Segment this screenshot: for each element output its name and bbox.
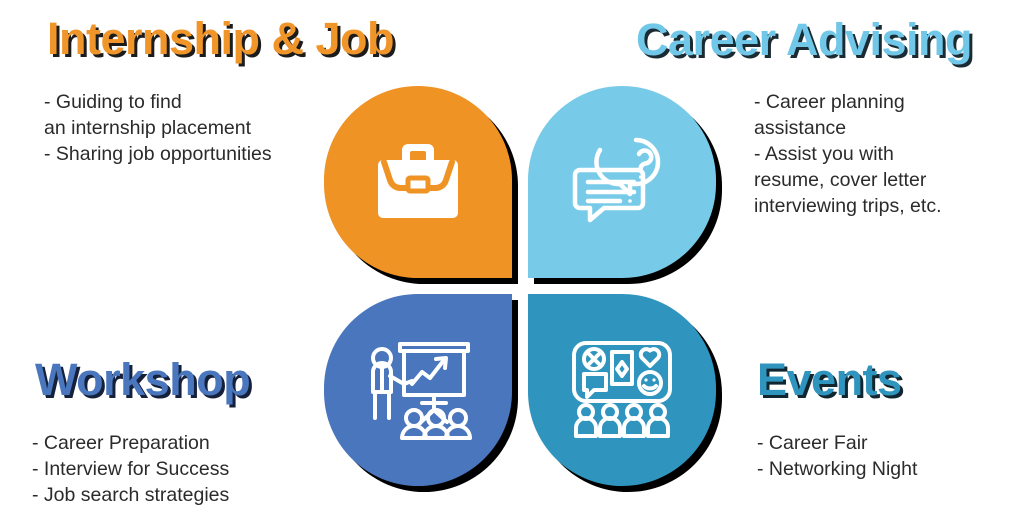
- quadrant-title-workshop: Workshop: [35, 357, 250, 402]
- quadrant-body-advising: - Career planning assistance - Assist yo…: [754, 90, 942, 220]
- quadrant-title-advising: Career Advising: [636, 17, 972, 62]
- presentation-training-icon: [324, 294, 512, 486]
- events-board-audience-icon: [528, 294, 716, 486]
- petal-cluster: [324, 86, 716, 486]
- petal-internship[interactable]: [324, 86, 512, 278]
- quadrant-body-workshop: - Career Preparation - Interview for Suc…: [32, 431, 229, 509]
- petal-events[interactable]: [528, 294, 716, 486]
- career-services-infographic: Internship & Job - Guiding to find an in…: [0, 0, 1024, 523]
- petal-advising[interactable]: [528, 86, 716, 278]
- petal-workshop[interactable]: [324, 294, 512, 486]
- quadrant-title-events: Events: [757, 357, 902, 402]
- quadrant-body-internship: - Guiding to find an internship placemen…: [44, 90, 272, 168]
- quadrant-title-internship: Internship & Job: [47, 16, 394, 61]
- chat-question-icon: [528, 86, 716, 278]
- briefcase-icon: [324, 86, 512, 278]
- quadrant-body-events: - Career Fair - Networking Night: [757, 431, 917, 483]
